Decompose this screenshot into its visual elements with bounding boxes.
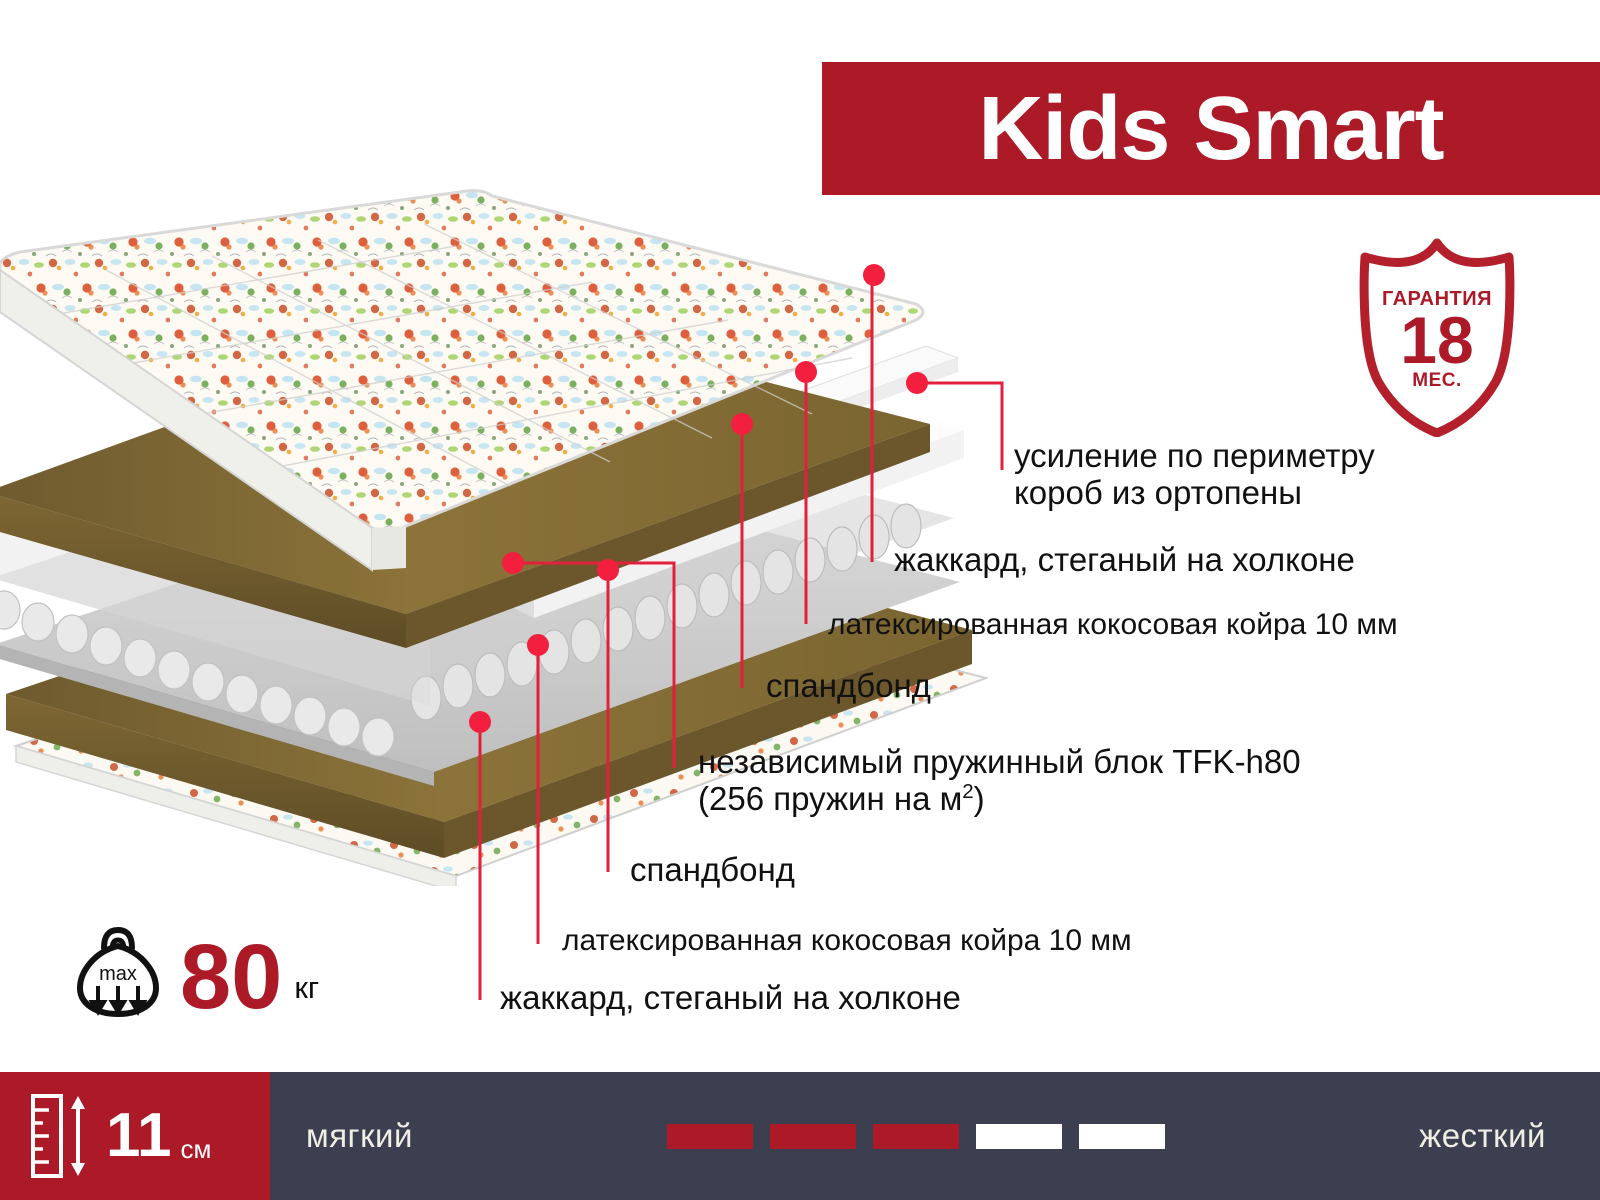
max-weight-value: 80 [180,937,282,1018]
warranty-badge: ГАРАНТИЯ 18 МЕС. [1347,237,1527,437]
label-spunbond-bottom: спандбонд [630,852,795,889]
firmness-scale [667,1124,1165,1149]
firmness-block: мягкий жесткий [270,1072,1600,1200]
firmness-segment-1 [667,1124,753,1149]
firmness-segment-3 [873,1124,959,1149]
ruler-icon [30,1093,92,1179]
max-weight-unit: кг [294,970,319,1006]
firmness-segment-2 [770,1124,856,1149]
bottom-bar: 11 см мягкий жесткий [0,1072,1600,1200]
firmness-segment-4 [976,1124,1062,1149]
label-jacquard-bottom: жаккард, стеганый на холконе [500,980,961,1017]
warranty-unit: МЕС. [1412,370,1462,392]
label-perimeter: усиление по периметру короб из ортопены [1014,438,1375,512]
product-title-banner: Kids Smart [822,62,1600,195]
firmness-hard-label: жесткий [1419,1117,1546,1155]
warranty-text: ГАРАНТИЯ 18 МЕС. [1347,237,1527,437]
height-unit: см [181,1134,212,1165]
label-coir-bottom: латексированная кокосовая койра 10 мм [562,924,1132,958]
label-coir-top: латексированная кокосовая койра 10 мм [828,608,1398,642]
poster-canvas: Kids Smart ГАРАНТИЯ 18 МЕС. [0,0,1600,1200]
max-weight-block: max 80 кг [72,908,402,1018]
label-spring-block: независимый пружинный блок TFK-h80 (256 … [698,744,1301,818]
page-title: Kids Smart [978,84,1443,174]
firmness-soft-label: мягкий [306,1117,413,1155]
firmness-segment-5 [1079,1124,1165,1149]
height-value: 11 [106,1105,172,1167]
kettlebell-max-icon: max [72,918,164,1018]
label-spunbond-top: спандбонд [766,668,931,705]
label-jacquard-top: жаккард, стеганый на холконе [894,542,1355,579]
height-block: 11 см [0,1072,270,1200]
warranty-value: 18 [1400,309,1473,372]
label-spring-block-line2: (256 пружин на м2) [698,781,1301,818]
svg-text:max: max [99,963,137,985]
